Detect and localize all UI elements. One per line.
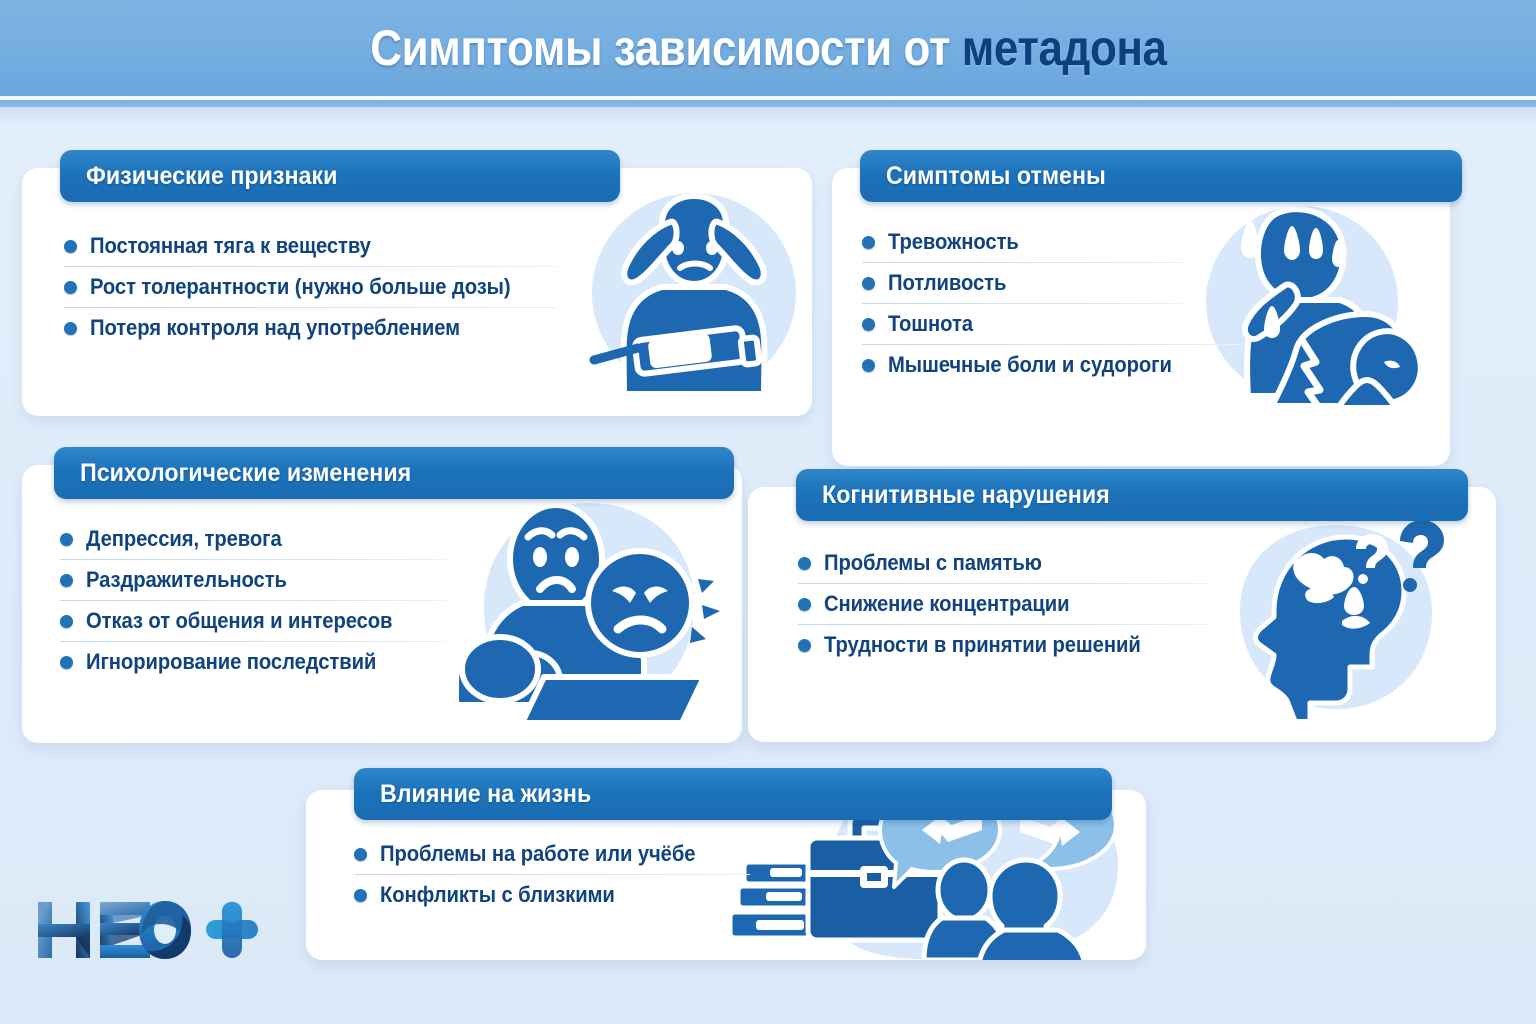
- bullet-icon: [60, 656, 73, 669]
- bullet-icon: [798, 557, 811, 570]
- list-item: Проблемы на работе или учёбе: [354, 834, 750, 874]
- list-item: Игнорирование последствий: [60, 642, 446, 682]
- bullet-icon: [60, 615, 73, 628]
- card-title-withdrawal-symptoms: Симптомы отмены: [860, 150, 1462, 202]
- page-title-accent: метадона: [961, 20, 1166, 76]
- bullet-icon: [798, 598, 811, 611]
- bullet-icon: [64, 240, 77, 253]
- list-item: Мышечные боли и судороги: [862, 345, 1182, 385]
- logo-letter-o: [139, 901, 191, 959]
- header-stripe: [0, 100, 1536, 107]
- card-psychological-changes: Психологические изменения Депрессия, тре…: [22, 465, 742, 743]
- list-item: Снижение концентрации: [798, 584, 1210, 624]
- card-title-life-impact: Влияние на жизнь: [354, 768, 1112, 820]
- logo-letter-n: [38, 902, 90, 958]
- list-item: Трудности в принятии решений: [798, 625, 1210, 665]
- header-band: Симптомы зависимости от метадона: [0, 0, 1536, 96]
- list-item: Конфликты с близкими: [354, 875, 750, 915]
- card-cognitive-impairment: Когнитивные нарушения Проблемы с памятью…: [748, 487, 1496, 742]
- bullet-icon: [862, 359, 875, 372]
- card-shadow: [32, 740, 732, 752]
- card-title-physical-signs: Физические признаки: [60, 150, 620, 202]
- infographic-canvas: Симптомы зависимости от метадона: [0, 0, 1536, 1024]
- card-title-cognitive-impairment: Когнитивные нарушения: [796, 469, 1468, 521]
- sweating-person-cramps-icon: [1184, 190, 1444, 452]
- card-shadow: [758, 739, 1486, 751]
- list-item: Тревожность: [862, 222, 1182, 262]
- bullet-icon: [798, 639, 811, 652]
- card-physical-signs: Физические признаки Постоянная тяга к ве…: [22, 168, 812, 416]
- header-fade: [0, 107, 1536, 123]
- card-shadow: [32, 413, 802, 425]
- bullet-icon: [354, 848, 367, 861]
- bullet-icon: [60, 533, 73, 546]
- page-title-main: Симптомы зависимости от: [370, 20, 961, 76]
- page-title: Симптомы зависимости от метадона: [370, 19, 1166, 77]
- bullet-icon: [862, 236, 875, 249]
- card-title-psychological-changes: Психологические изменения: [54, 447, 734, 499]
- list-item: Потеря контроля над употреблением: [64, 308, 556, 348]
- list-item: Проблемы с памятью: [798, 543, 1210, 583]
- list-item: Постоянная тяга к веществу: [64, 226, 556, 266]
- bullet-icon: [64, 281, 77, 294]
- bullet-icon: [354, 889, 367, 902]
- list-item: Рост толерантности (нужно больше дозы): [64, 267, 556, 307]
- sad-person-angry-face-icon: [444, 487, 734, 723]
- stressed-person-syringe-icon: [574, 188, 814, 398]
- bullet-icon: [60, 574, 73, 587]
- logo-plus-icon: [206, 902, 258, 958]
- card-withdrawal-symptoms: Симптомы отмены Тревожность Потливость Т…: [832, 168, 1450, 466]
- bullet-icon: [862, 277, 875, 290]
- bullet-icon: [64, 322, 77, 335]
- list-item: Депрессия, тревога: [60, 519, 446, 559]
- bullet-icon: [862, 318, 875, 331]
- card-life-impact: Влияние на жизнь Проблемы на работе или …: [306, 790, 1146, 960]
- list-item: Тошнота: [862, 304, 1182, 344]
- neo-plus-logo: [32, 890, 262, 970]
- list-item: Потливость: [862, 263, 1182, 303]
- head-brain-question-icon: [1214, 515, 1456, 719]
- list-item: Раздражительность: [60, 560, 446, 600]
- list-item: Отказ от общения и интересов: [60, 601, 446, 641]
